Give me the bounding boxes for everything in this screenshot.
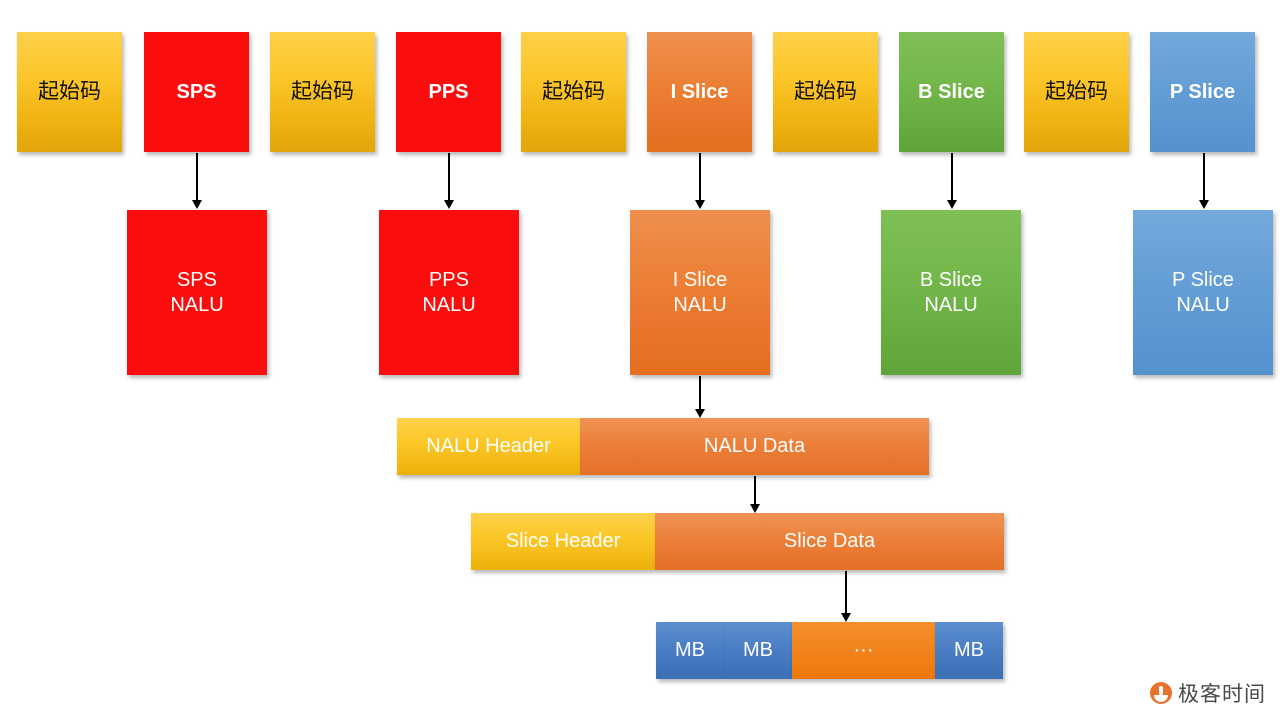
slice-bar-segment-label: Slice Header — [506, 530, 621, 553]
nalu-box-label: B Slice NALU — [920, 268, 982, 317]
arrow-shaft — [754, 476, 756, 505]
arrow-i-slice-to-nalu — [699, 153, 701, 209]
stream-box-label: I Slice — [671, 80, 729, 104]
arrow-head — [841, 613, 851, 622]
stream-box-start-code-8: 起始码 — [1024, 32, 1129, 152]
nalu-box-sps-nalu: SPS NALU — [127, 210, 267, 375]
nalu-bar-nalu-data-1: NALU Data — [580, 418, 929, 475]
stream-box-label: 起始码 — [291, 79, 354, 105]
nalu-bar-segment-label: NALU Header — [426, 435, 551, 458]
diagram-canvas: 起始码SPS起始码PPS起始码I Slice起始码B Slice起始码P Sli… — [0, 0, 1280, 720]
nalu-bar-segment-label: NALU Data — [704, 435, 805, 458]
arrow-i-nalu-to-nalu-bar — [699, 376, 701, 418]
stream-box-label: 起始码 — [1045, 79, 1108, 105]
nalu-box-label: PPS NALU — [422, 268, 475, 317]
nalu-box-label: P Slice NALU — [1172, 268, 1234, 317]
macroblock-bar-segment-label: MB — [954, 639, 984, 662]
nalu-box-label: SPS NALU — [170, 268, 223, 317]
macroblock-bar-segment-label: MB — [743, 639, 773, 662]
nalu-box-b-slice-nalu: B Slice NALU — [881, 210, 1021, 375]
arrow-b-slice-to-nalu — [951, 153, 953, 209]
stream-box-p-slice-9: P Slice — [1150, 32, 1255, 152]
arrow-nalu-data-to-slice-bar — [754, 476, 756, 513]
stream-box-start-code-0: 起始码 — [17, 32, 122, 152]
arrow-shaft — [448, 153, 450, 201]
slice-bar-slice-header-0: Slice Header — [471, 513, 655, 570]
arrow-head — [1199, 200, 1209, 209]
arrow-head — [695, 409, 705, 418]
stream-box-start-code-6: 起始码 — [773, 32, 878, 152]
stream-box-label: 起始码 — [38, 79, 101, 105]
arrow-head — [444, 200, 454, 209]
arrow-head — [750, 504, 760, 513]
stream-box-label: B Slice — [918, 80, 985, 104]
arrow-head — [192, 200, 202, 209]
watermark: 极客时间 — [1150, 678, 1266, 708]
geektime-logo-icon — [1150, 682, 1172, 704]
nalu-box-pps-nalu: PPS NALU — [379, 210, 519, 375]
arrow-shaft — [845, 571, 847, 614]
macroblock-bar-segment-label: MB — [675, 639, 705, 662]
arrow-p-slice-to-nalu — [1203, 153, 1205, 209]
stream-box-label: 起始码 — [542, 79, 605, 105]
arrow-shaft — [699, 153, 701, 201]
stream-box-sps-1: SPS — [144, 32, 249, 152]
arrow-shaft — [1203, 153, 1205, 201]
arrow-head — [695, 200, 705, 209]
macroblock-bar-macroblock-1: MB — [724, 622, 792, 679]
arrow-sps-to-nalu — [196, 153, 198, 209]
nalu-bar-nalu-header-0: NALU Header — [397, 418, 580, 475]
stream-box-label: PPS — [428, 80, 468, 104]
stream-box-i-slice-5: I Slice — [647, 32, 752, 152]
nalu-box-i-slice-nalu: I Slice NALU — [630, 210, 770, 375]
arrow-shaft — [196, 153, 198, 201]
stream-box-b-slice-7: B Slice — [899, 32, 1004, 152]
watermark-label: 极客时间 — [1178, 678, 1266, 708]
arrow-slice-data-to-mb-bar — [845, 571, 847, 622]
arrow-shaft — [699, 376, 701, 410]
stream-box-start-code-4: 起始码 — [521, 32, 626, 152]
macroblock-bar-segment-label: ··· — [854, 639, 874, 662]
nalu-box-label: I Slice NALU — [673, 268, 727, 317]
stream-box-label: 起始码 — [794, 79, 857, 105]
arrow-head — [947, 200, 957, 209]
slice-bar-slice-data-1: Slice Data — [655, 513, 1004, 570]
stream-box-pps-3: PPS — [396, 32, 501, 152]
stream-box-label: SPS — [176, 80, 216, 104]
slice-bar-segment-label: Slice Data — [784, 530, 875, 553]
arrow-pps-to-nalu — [448, 153, 450, 209]
arrow-shaft — [951, 153, 953, 201]
stream-box-start-code-2: 起始码 — [270, 32, 375, 152]
macroblock-bar-macroblock-3: MB — [935, 622, 1003, 679]
nalu-box-p-slice-nalu: P Slice NALU — [1133, 210, 1273, 375]
macroblock-bar-macroblock-gap-2: ··· — [792, 622, 935, 679]
macroblock-bar-macroblock-0: MB — [656, 622, 724, 679]
stream-box-label: P Slice — [1170, 80, 1235, 104]
